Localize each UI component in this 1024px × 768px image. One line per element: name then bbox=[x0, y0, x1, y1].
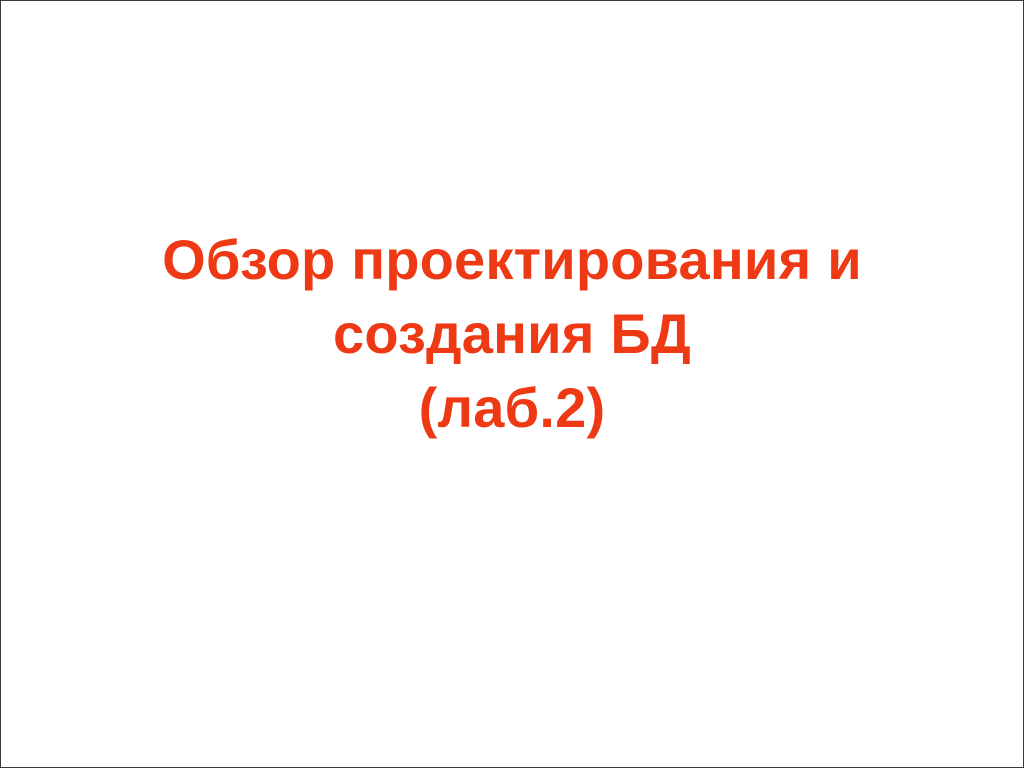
title-line-2: создания БД bbox=[65, 297, 959, 371]
title-line-3: (лаб.2) bbox=[65, 371, 959, 445]
slide-title: Обзор проектирования и создания БД (лаб.… bbox=[1, 223, 1023, 445]
presentation-slide: Обзор проектирования и создания БД (лаб.… bbox=[0, 0, 1024, 768]
title-line-1: Обзор проектирования и bbox=[65, 223, 959, 297]
slide-content-area bbox=[65, 471, 959, 727]
